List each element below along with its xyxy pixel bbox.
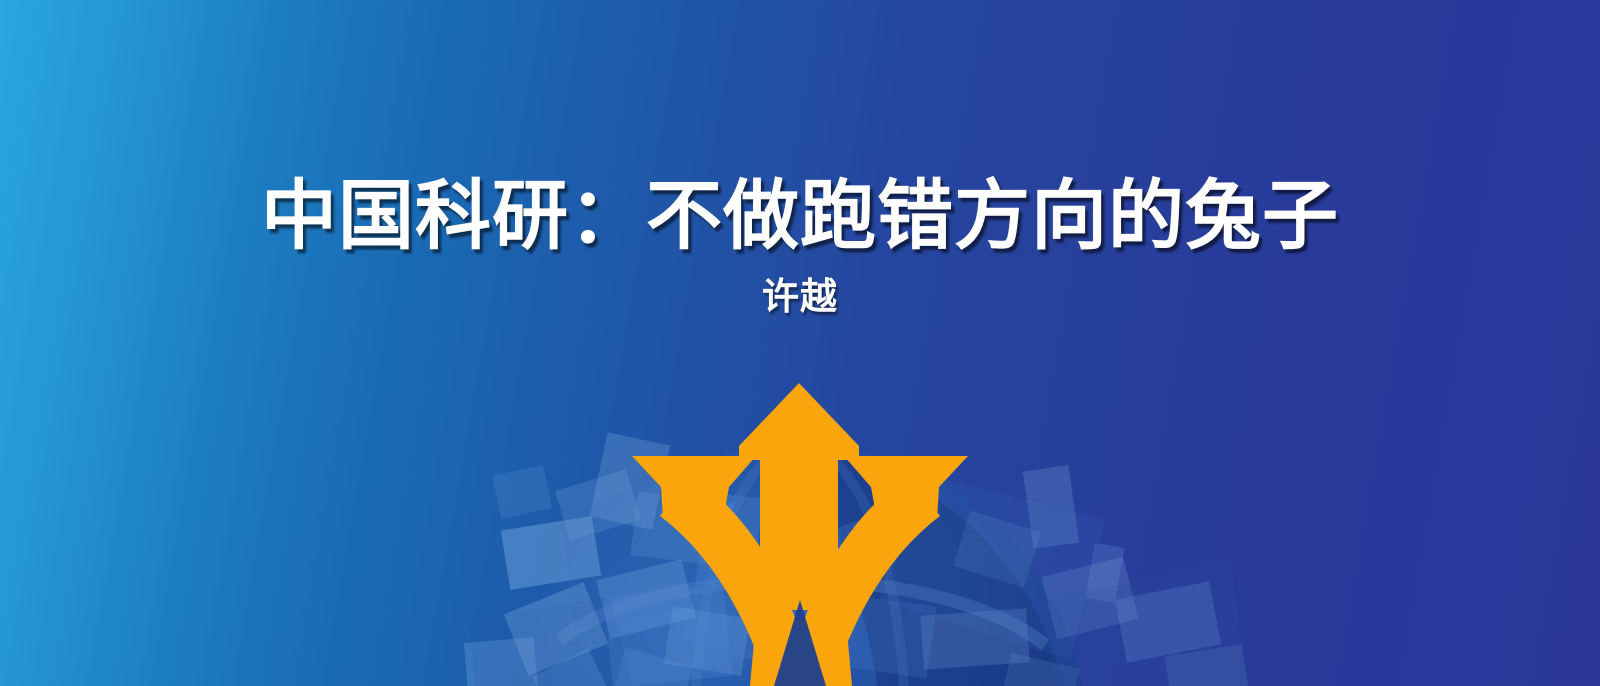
title-block: 中国科研：不做跑错方向的兔子 许越	[0, 0, 1600, 315]
arrow-split-notch	[774, 600, 826, 686]
fragment-cluster-center	[604, 492, 937, 686]
arrow-left	[632, 456, 814, 686]
page-title: 中国科研：不做跑错方向的兔子	[0, 0, 1600, 254]
orange-arrow-group	[632, 383, 968, 686]
fragment-panels	[470, 470, 1250, 686]
presentation-slide: 中国科研：不做跑错方向的兔子 许越	[0, 0, 1600, 686]
fragment-cluster-left	[464, 432, 750, 686]
fragment-cluster-right	[920, 465, 1249, 686]
author-name: 许越	[0, 254, 1600, 315]
arrow-right	[786, 456, 968, 686]
arrow-up	[739, 383, 859, 610]
globe-shape	[515, 445, 1085, 686]
